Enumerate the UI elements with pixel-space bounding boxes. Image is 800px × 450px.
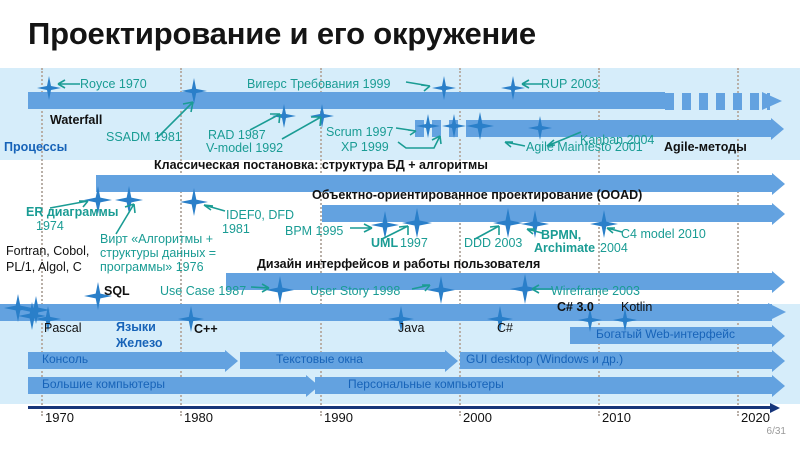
label-bar-textwindows: Текстовые окна [276,352,363,367]
annotation-uml-year: 1997 [400,236,428,250]
label-ooad: Объектно-ориентированное проектирование … [312,188,642,202]
annotation-wiegers: Вигерс Требования 1999 [247,77,390,91]
page-title: Проектирование и его окружение [28,16,536,52]
label-bar-pc: Персональные компьютеры [348,377,504,392]
annotation-cpp: C++ [194,322,218,336]
annotation-ssadm: SSADM 1981 [106,130,182,144]
slide-canvas: Проектирование и его окружение Waterfall… [0,0,800,450]
label-uxdesign: Дизайн интерфейсов и работы пользователя [257,257,540,271]
annotation-langs-old: Fortran, Cobol, PL/1, Algol, C [6,243,98,275]
annotation-vmodel: V-model 1992 [206,141,283,155]
bar-waterfall [28,92,665,109]
annotation-csharp: C# [497,321,513,335]
annotation-wirth: Вирт «Алгоритмы + структуры данных = про… [100,232,222,274]
annotation-c4model: C4 model 2010 [621,227,706,241]
annotation-uml: UML [371,236,398,250]
bar-agile-fade [415,120,472,137]
bar-languages [0,304,772,321]
annotation-agile-manifesto: Agile Mainfesto 2001 [526,140,643,154]
axis-tick-2010: 2010 [602,410,631,425]
bar-waterfall-fade [665,93,770,110]
annotation-langs-c: C [73,260,82,274]
annotation-bpmn: BPMN, [541,228,581,242]
bar-ooad [322,205,772,222]
axis-tick-2020: 2020 [741,410,770,425]
annotation-csharp30: C# 3.0 [557,300,594,314]
annotation-idef0: IDEF0, DFD [226,208,294,222]
annotation-java: Java [398,321,424,335]
axis-tick-1980: 1980 [184,410,213,425]
label-sql: SQL [104,284,130,298]
label-hardware: Железо [116,336,163,350]
axis-tick-1990: 1990 [324,410,353,425]
axis-tick-1970: 1970 [45,410,74,425]
annotation-kotlin: Kotlin [621,300,652,314]
label-agile-methods: Agile-методы [664,140,747,154]
annotation-royce: Royce 1970 [80,77,147,91]
annotation-archimate: Archimate [534,241,595,255]
timeline-axis [28,406,770,409]
annotation-pascal: Pascal [44,321,82,335]
annotation-rup: RUP 2003 [541,77,598,91]
annotation-usecase: Use Case 1987 [160,284,246,298]
leader-idef0 [200,200,228,216]
label-languages: Языки [116,320,156,334]
annotation-wireframe: Wireframe 2003 [551,284,640,298]
label-bar-mainframes: Большие компьютеры [42,377,165,392]
label-processes: Процессы [4,140,67,154]
star-idef0 [180,188,208,216]
leader-bpm [348,220,376,236]
annotation-er-year: 1974 [36,219,64,233]
axis-tick-2000: 2000 [463,410,492,425]
bar-uxdesign [226,273,772,290]
label-bar-gui: GUI desktop (Windows и др.) [466,352,623,367]
annotation-idef0-year: 1981 [222,222,250,236]
label-bar-console: Консоль [42,352,88,367]
annotation-xp: XP 1999 [341,140,389,154]
annotation-ddd: DDD 2003 [464,236,522,250]
annotation-bpm: BPM 1995 [285,224,343,238]
annotation-scrum: Scrum 1997 [326,125,393,139]
label-waterfall: Waterfall [50,113,102,127]
label-bar-richweb: Богатый Web-интерфейс [596,327,735,342]
annotation-archimate-year: 2004 [600,241,628,255]
annotation-userstory: User Story 1998 [310,284,400,298]
label-classic: Классическая постановка: структура БД + … [154,158,488,172]
annotation-er-diagrams: ER диаграммы [26,205,118,219]
page-number: 6/31 [767,426,786,437]
annotation-rad: RAD 1987 [208,128,266,142]
